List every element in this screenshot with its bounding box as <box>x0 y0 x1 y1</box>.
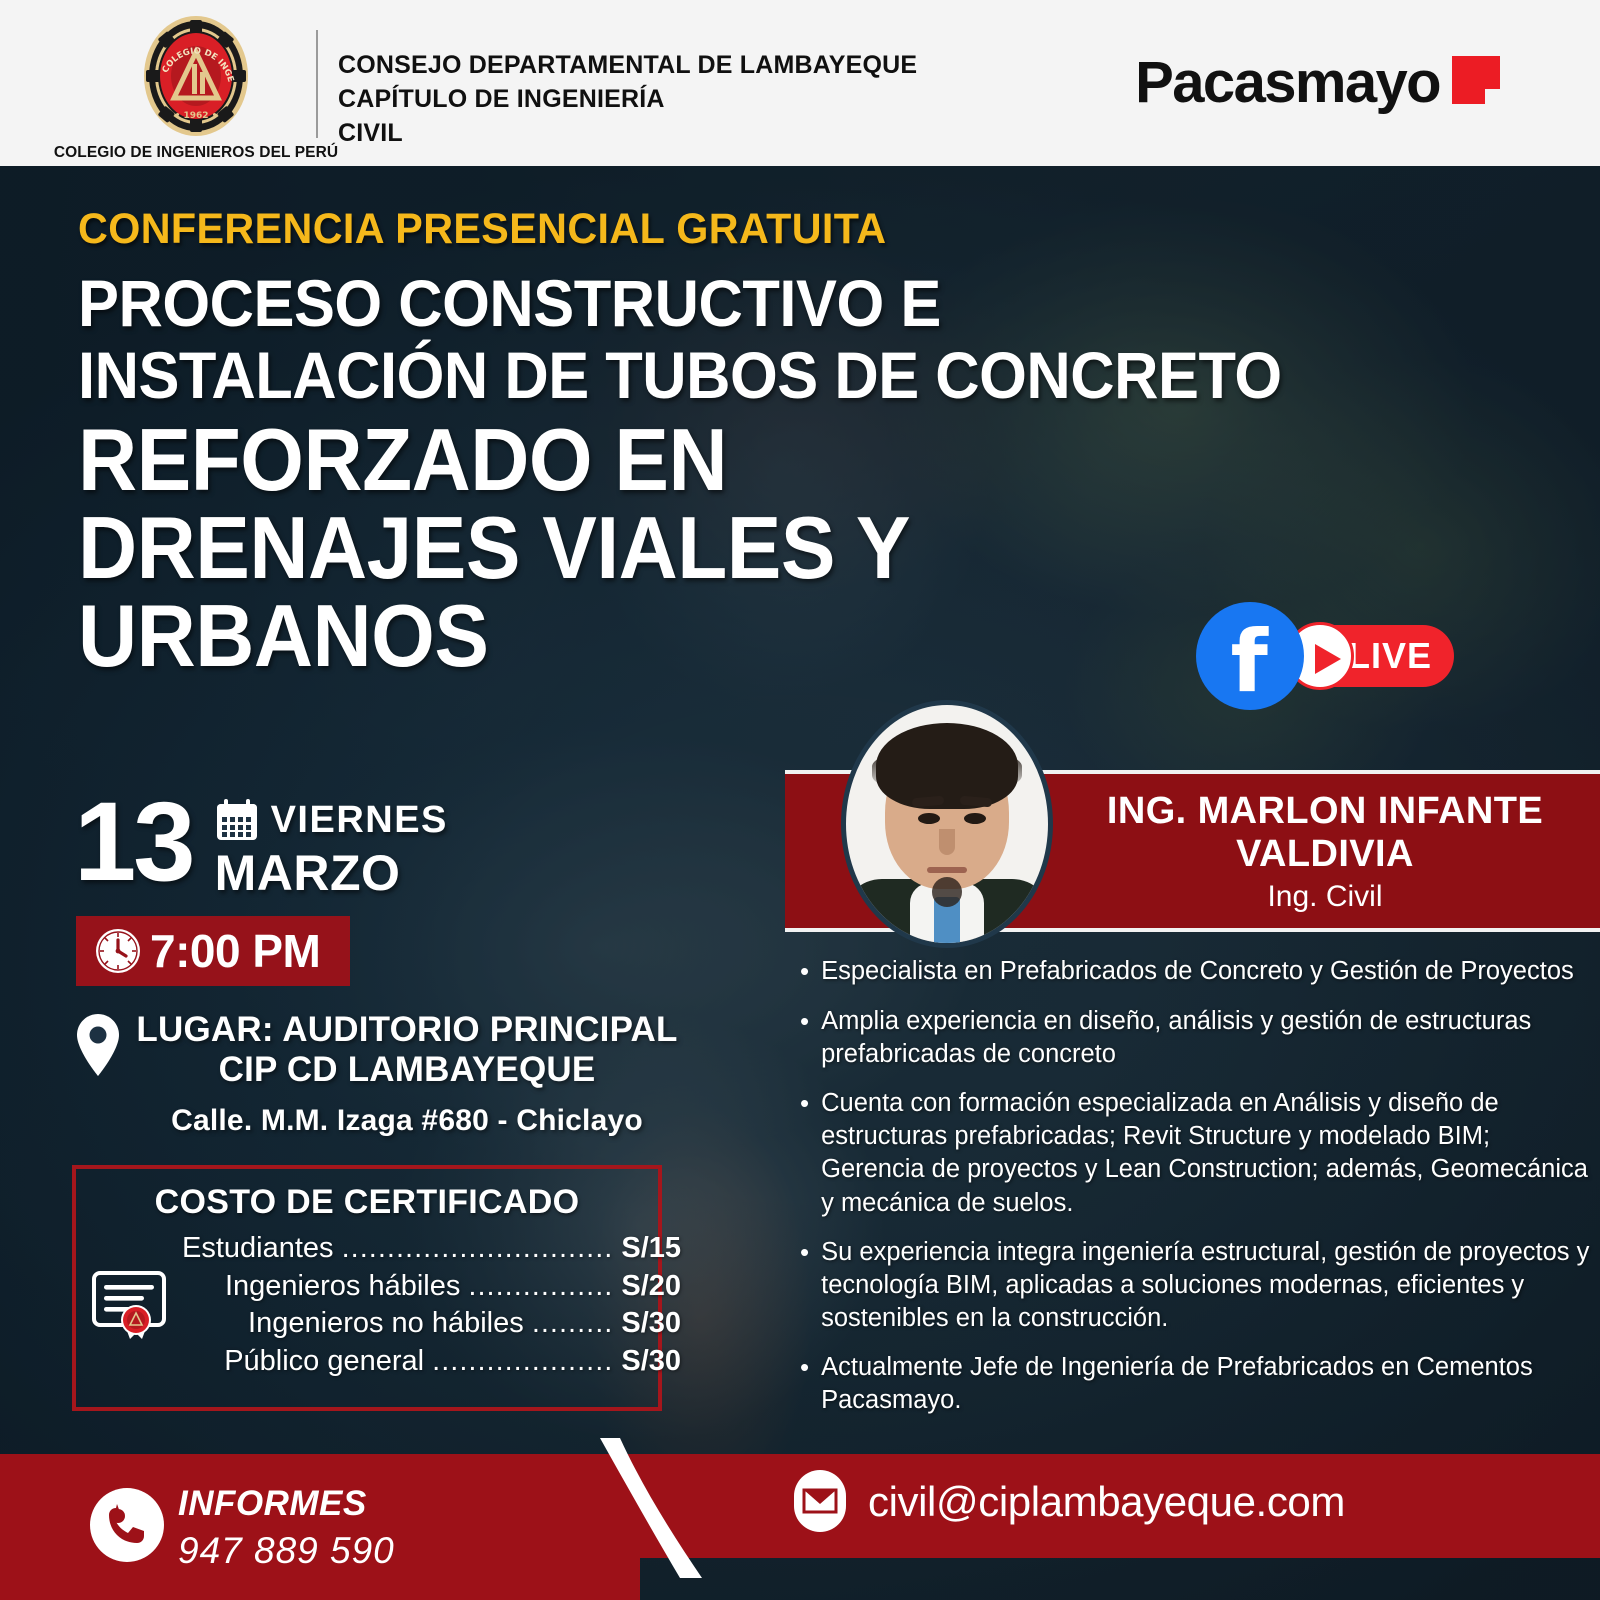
speaker-avatar <box>841 700 1053 948</box>
cip-caption: COLEGIO DE INGENIEROS DEL PERÚ <box>54 144 338 162</box>
speaker-role: Ing. Civil <box>1075 880 1575 914</box>
day-number: 13 <box>74 790 193 893</box>
certificate-icon <box>86 1259 178 1351</box>
phone-icon <box>88 1486 166 1564</box>
footer-bar: INFORMES 947 889 590 civil@ciplambayeque… <box>0 1420 1600 1600</box>
pacasmayo-wordmark: Pacasmayo <box>1135 54 1440 112</box>
place-line-1: LUGAR: AUDITORIO PRINCIPAL <box>132 1010 682 1050</box>
title-line-5: URBANOS <box>78 592 1324 680</box>
contact-email[interactable]: civil@ciplambayeque.com <box>868 1478 1345 1526</box>
list-item: • Actualmente Jefe de Ingeniería de Pref… <box>800 1351 1590 1417</box>
speaker-name: ING. MARLON INFANTE VALDIVIA <box>1075 790 1575 875</box>
cost-box-title: COSTO DE CERTIFICADO <box>76 1183 658 1222</box>
informes-label: INFORMES <box>178 1484 367 1524</box>
contact-phone[interactable]: 947 889 590 <box>178 1530 395 1572</box>
event-time: 7:00 PM <box>150 924 320 978</box>
header-line-1: CONSEJO DEPARTAMENTAL DE LAMBAYEQUE <box>338 48 917 82</box>
header-divider <box>316 30 318 138</box>
bullet-text: Cuenta con formación especializada en An… <box>821 1087 1590 1220</box>
certificate-cost-box: COSTO DE CERTIFICADO <box>72 1165 662 1411</box>
speaker-bio-list: • Especialista en Prefabricados de Concr… <box>800 955 1590 1433</box>
title-line-4: DRENAJES VIALES Y <box>78 504 1324 592</box>
list-item: • Cuenta con formación especializada en … <box>800 1087 1590 1220</box>
calendar-icon <box>215 798 259 842</box>
bullet-text: Amplia experiencia en diseño, análisis y… <box>821 1005 1590 1071</box>
live-label: LIVE <box>1348 635 1432 677</box>
bullet-text: Su experiencia integra ingeniería estruc… <box>821 1236 1590 1335</box>
speaker-name-line-2: VALDIVIA <box>1075 833 1575 876</box>
event-time-badge: 7:00 PM <box>76 916 350 986</box>
header-title-block: CONSEJO DEPARTAMENTAL DE LAMBAYEQUE CAPÍ… <box>338 48 917 150</box>
cost-row: Público general .................... S/3… <box>182 1343 685 1381</box>
cip-seal-icon: • 1962 • COLEGIO DE INGENIEROS DEL PERU <box>142 14 250 142</box>
pacasmayo-mark-icon <box>1452 56 1500 104</box>
speaker-name-line-1: ING. MARLON INFANTE <box>1075 790 1575 833</box>
bullet-dot-icon: • <box>800 1005 809 1071</box>
cip-logo-block: • 1962 • COLEGIO DE INGENIEROS DEL PERU … <box>66 14 326 159</box>
header-bar: • 1962 • COLEGIO DE INGENIEROS DEL PERU … <box>0 0 1600 166</box>
list-item: • Amplia experiencia en diseño, análisis… <box>800 1005 1590 1071</box>
day-name: VIERNES <box>271 799 448 842</box>
cost-row: Estudiantes ............................… <box>182 1230 685 1268</box>
event-place-block: LUGAR: AUDITORIO PRINCIPAL CIP CD LAMBAY… <box>72 1010 692 1138</box>
facebook-icon[interactable]: f <box>1196 602 1304 710</box>
email-icon <box>790 1464 850 1538</box>
list-item: • Especialista en Prefabricados de Concr… <box>800 955 1590 989</box>
location-pin-icon <box>72 1012 124 1078</box>
cost-row: Ingenieros hábiles ................ S/20 <box>182 1268 685 1306</box>
bullet-dot-icon: • <box>800 1236 809 1335</box>
bullet-text: Especialista en Prefabricados de Concret… <box>821 955 1574 989</box>
poster-root: • 1962 • COLEGIO DE INGENIEROS DEL PERU … <box>0 0 1600 1600</box>
live-pill[interactable]: LIVE <box>1288 625 1454 687</box>
title-line-2: INSTALACIÓN DE TUBOS DE CONCRETO <box>78 342 1324 410</box>
cost-row: Ingenieros no hábiles ......... S/30 <box>182 1305 685 1343</box>
bullet-dot-icon: • <box>800 1351 809 1417</box>
place-address: Calle. M.M. Izaga #680 - Chiclayo <box>132 1104 682 1138</box>
list-item: • Su experiencia integra ingeniería estr… <box>800 1236 1590 1335</box>
clock-icon <box>94 927 142 975</box>
pacasmayo-logo: Pacasmayo <box>1135 54 1500 112</box>
footer-swoosh-divider <box>584 1438 764 1578</box>
svg-text:• 1962 •: • 1962 • <box>175 111 218 121</box>
month-name: MARZO <box>215 844 448 902</box>
facebook-live-badge[interactable]: f LIVE <box>1196 602 1454 710</box>
header-line-3: CIVIL <box>338 116 917 150</box>
cost-rows: Estudiantes ............................… <box>182 1230 691 1381</box>
bullet-dot-icon: • <box>800 1087 809 1220</box>
kicker-text: CONFERENCIA PRESENCIAL GRATUITA <box>78 205 886 254</box>
title-line-1: PROCESO CONSTRUCTIVO E <box>78 270 1324 338</box>
header-line-2: CAPÍTULO DE INGENIERÍA <box>338 82 917 116</box>
title-line-3: REFORZADO EN <box>78 416 1324 504</box>
bullet-text: Actualmente Jefe de Ingeniería de Prefab… <box>821 1351 1590 1417</box>
event-date-block: 13 <box>74 790 448 902</box>
place-line-2: CIP CD LAMBAYEQUE <box>132 1050 682 1090</box>
bullet-dot-icon: • <box>800 955 809 989</box>
